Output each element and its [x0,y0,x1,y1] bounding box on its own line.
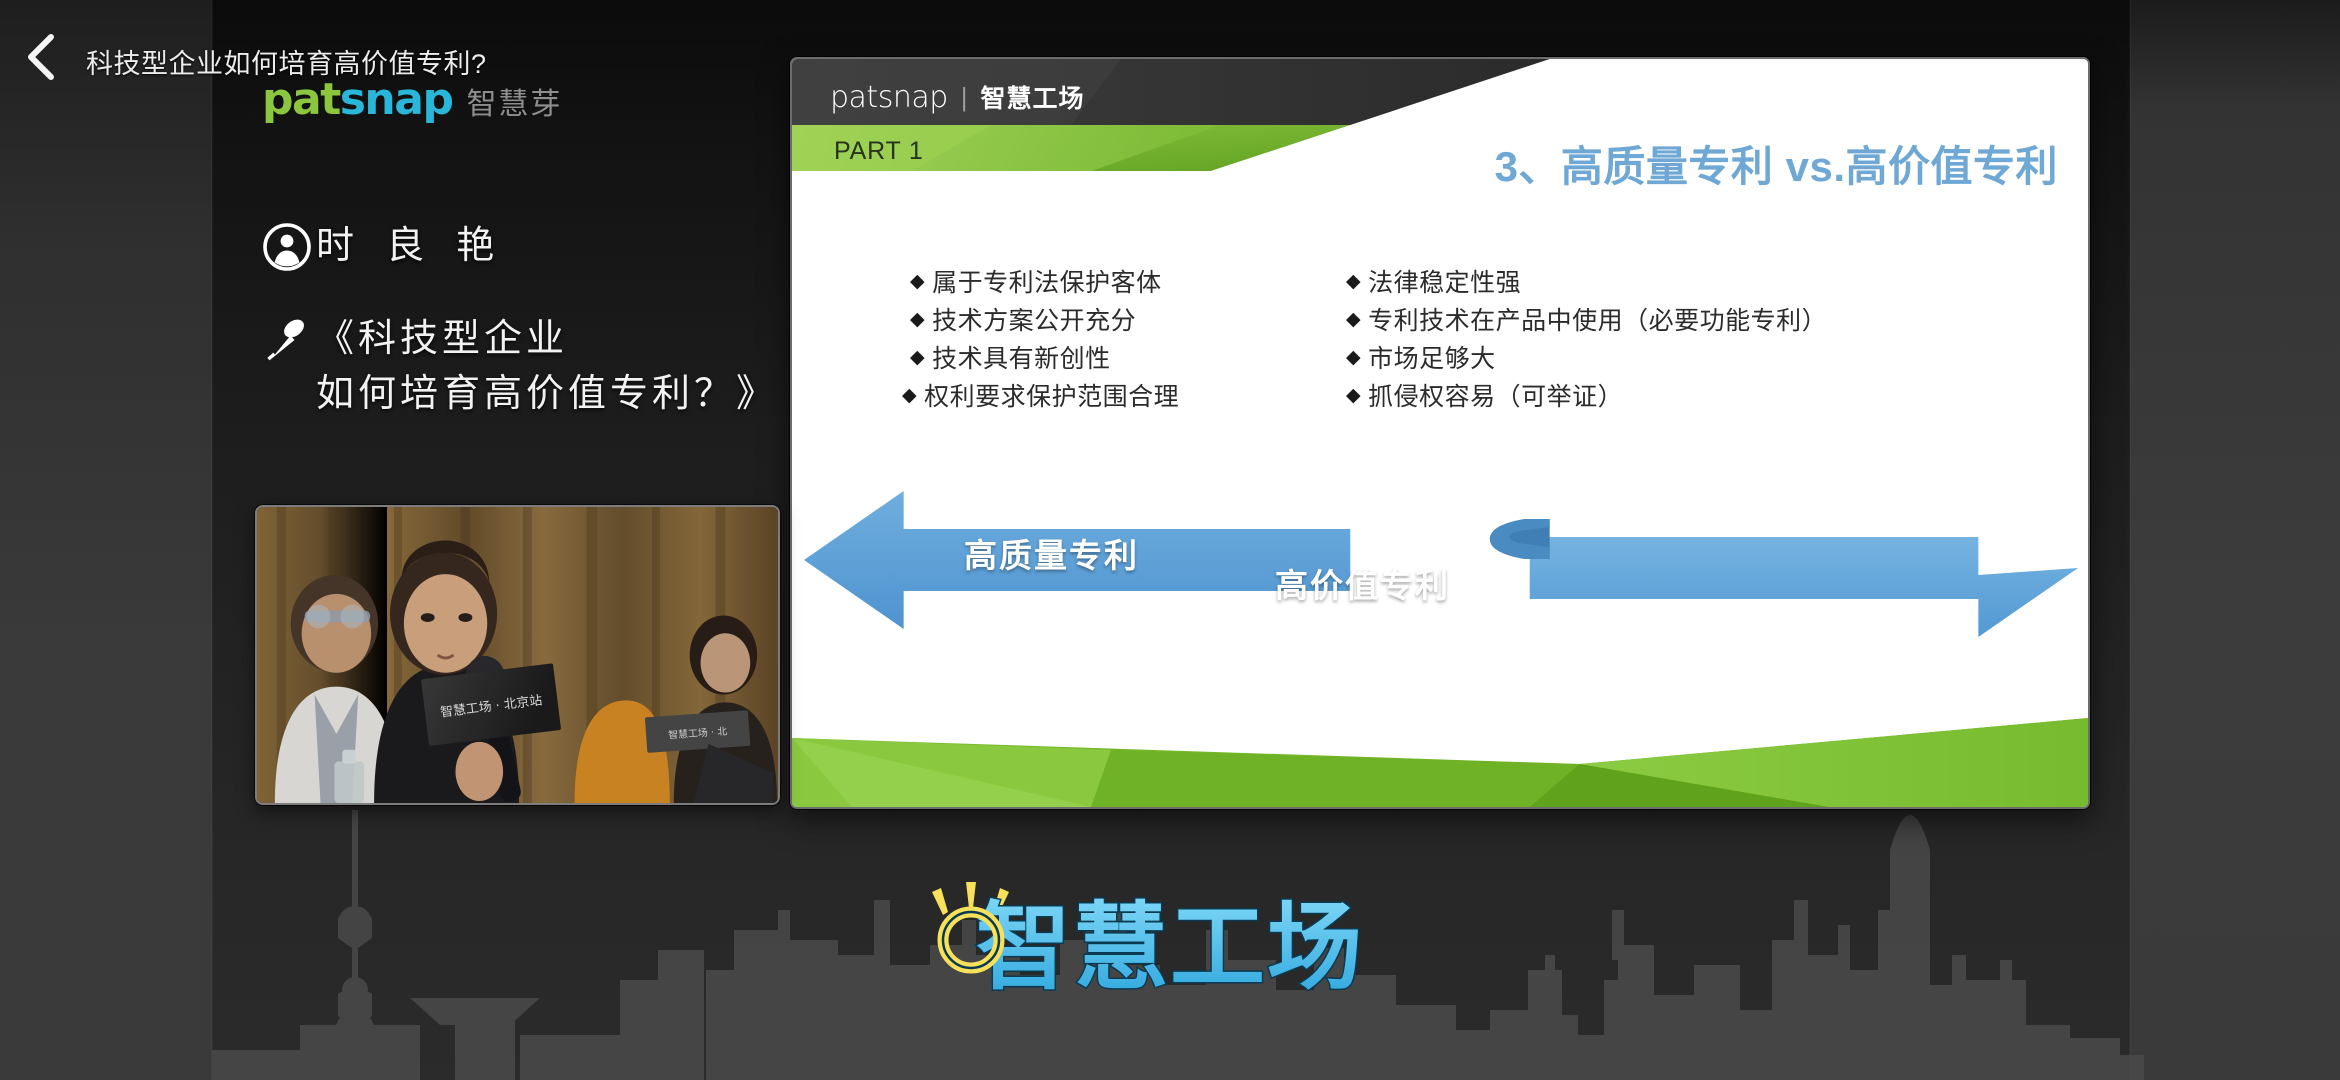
speaker-name-row: 时 良 艳 [258,218,778,273]
diamond-bullet-icon: ◆ [910,302,925,338]
bullet-item: ◆ 法律稳定性强 [1346,264,1986,302]
bullet-text: 技术方案公开充分 [932,302,1136,340]
brand-wordmark-pat: pat [262,74,340,125]
diamond-bullet-icon: ◆ [902,378,917,414]
patsnap-brand-logo: patsnap 智慧芽 [262,78,562,122]
speaker-topic-row: 《科技型企业 如何培育高价值专利？》 [258,311,778,421]
bullet-text: 专利技术在产品中使用（必要功能专利） [1368,302,1827,340]
bullet-item: ◆ 市场足够大 [1346,340,1986,378]
speaker-topic: 《科技型企业 如何培育高价值专利？》 [316,311,778,421]
arrow-label-high-quality: 高质量专利 [964,529,1139,577]
diamond-bullet-icon: ◆ [910,340,925,376]
bullet-column-value: ◆ 法律稳定性强 ◆ 专利技术在产品中使用（必要功能专利） ◆ 市场足够大 ◆ … [1346,264,1986,416]
bullet-item: ◆ 专利技术在产品中使用（必要功能专利） [1346,302,1986,340]
bullet-item: ◆ 抓侵权容易（可举证） [1346,378,1986,416]
chevron-left-icon [24,32,58,82]
diamond-bullet-icon: ◆ [1346,264,1361,300]
comparison-arrows-graphic: 高质量专利 高价值专利 [792,487,2088,677]
bullet-text: 抓侵权容易（可举证） [1368,378,1623,416]
diamond-bullet-icon: ◆ [910,264,925,300]
slide-part-label: PART 1 [834,137,924,166]
bullet-text: 法律稳定性强 [1368,264,1521,302]
bullet-item: ◆ 技术方案公开充分 [910,302,1290,340]
bullet-text: 市场足够大 [1368,340,1496,378]
zhihui-gongchang-logo: 智慧工场 [820,868,1520,1018]
bullet-text: 技术具有新创性 [932,340,1111,378]
event-logo: 智慧工场 [0,868,2340,1018]
app-root: 科技型企业如何培育高价值专利? patsnap 智慧芽 时 良 艳 [0,0,2340,1080]
user-circle-icon [262,222,312,272]
diamond-bullet-icon: ◆ [1346,302,1361,338]
video-frame-image: 智慧工场 · 北京站 智慧工场 · 北 [257,507,778,803]
slide-canvas: patsnap | 智慧工场 PART 1 3、高质量专利 vs.高价值专利 ◆… [792,59,2088,807]
speaker-name: 时 良 艳 [316,218,504,273]
diamond-bullet-icon: ◆ [1346,378,1361,414]
speaker-video-thumbnail[interactable]: 智慧工场 · 北京站 智慧工场 · 北 [255,505,780,805]
speaker-icon-wrap [258,218,316,272]
brand-chinese-name: 智慧芽 [466,90,562,120]
bullet-item: ◆ 权利要求保护范围合理 [902,378,1290,416]
brand-wordmark-snap: snap [340,74,453,125]
bullet-text: 属于专利法保护客体 [932,264,1162,302]
microphone-icon [261,315,313,367]
zhihui-gongchang-logo-text: 智慧工场 [976,893,1364,1003]
bullet-item: ◆ 技术具有新创性 [910,340,1290,378]
arrow-label-high-value: 高价值专利 [1275,559,1450,607]
speaker-info-block: 时 良 艳 《科技型企业 如何培育高价值专利？》 [258,218,778,459]
slide-heading: 3、高质量专利 vs.高价值专利 [1495,133,2058,194]
brand-wordmark: patsnap [262,78,452,122]
topic-icon-wrap [258,311,316,367]
diamond-bullet-icon: ◆ [1346,340,1361,376]
bullet-item: ◆ 属于专利法保护客体 [910,264,1290,302]
slide-footer-graphic [792,682,2088,807]
bullet-text: 权利要求保护范围合理 [924,378,1179,416]
bullet-column-quality: ◆ 属于专利法保护客体 ◆ 技术方案公开充分 ◆ 技术具有新创性 ◆ 权利要求保… [910,264,1290,416]
slide-bullet-columns: ◆ 属于专利法保护客体 ◆ 技术方案公开充分 ◆ 技术具有新创性 ◆ 权利要求保… [792,264,2088,416]
presentation-slide[interactable]: patsnap | 智慧工场 PART 1 3、高质量专利 vs.高价值专利 ◆… [790,57,2090,809]
back-button[interactable] [14,30,68,84]
